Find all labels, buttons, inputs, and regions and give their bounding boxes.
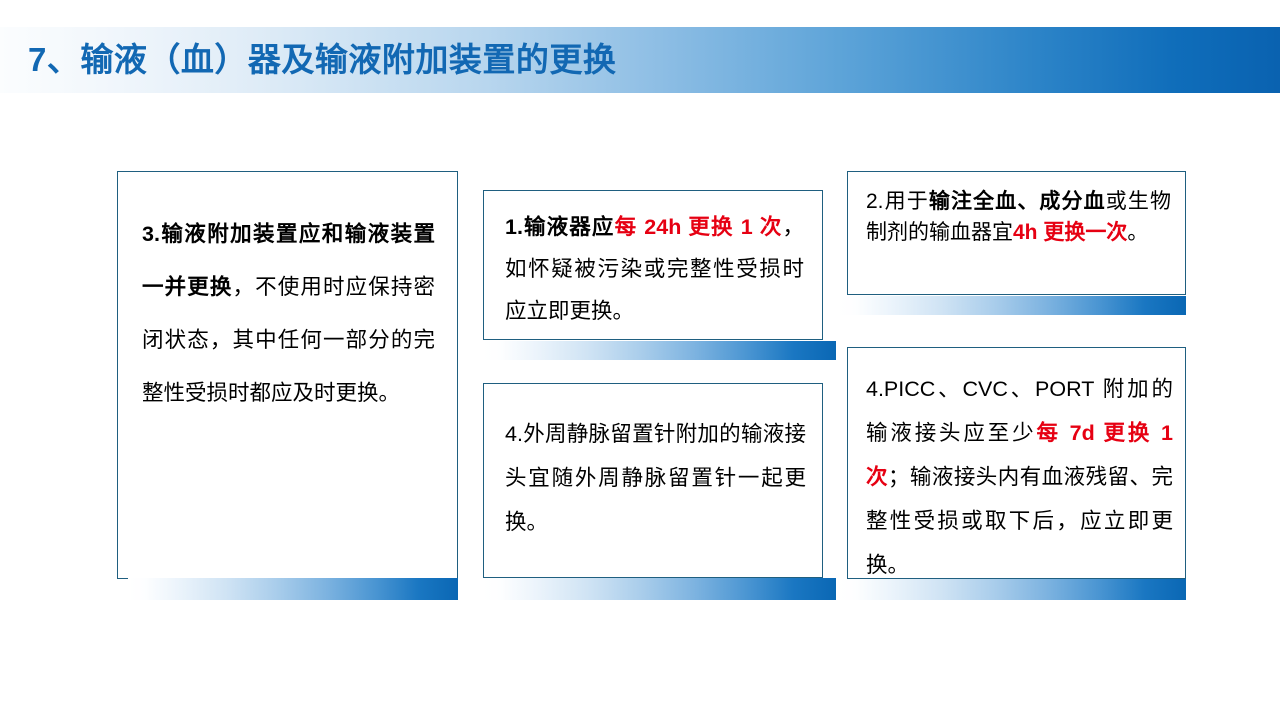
- card-text: 3.输液附加装置应和输液装置一并更换，不使用时应保持密闭状态，其中任何一部分的完…: [118, 172, 457, 420]
- infusion-add-on-device-card[interactable]: 3.输液附加装置应和输液装置一并更换，不使用时应保持密闭状态，其中任何一部分的完…: [117, 171, 458, 579]
- text-run-0: 1.输液器应: [505, 215, 615, 239]
- card-accent-bar: [483, 578, 836, 600]
- card-accent-bar: [483, 341, 836, 360]
- card-accent-bar: [838, 296, 1186, 315]
- text-run-1: 每 24h 更换 1 次: [615, 215, 783, 239]
- picc-cvc-port-connector-card[interactable]: 4.PICC、CVC、PORT 附加的输液接头应至少每 7d 更换 1 次；输液…: [847, 347, 1186, 579]
- card-accent-bar: [838, 579, 1186, 600]
- blood-transfusion-set-4h-card[interactable]: 2.用于输注全血、成分血或生物制剂的输血器宜4h 更换一次。: [847, 171, 1186, 295]
- infusion-set-24h-card[interactable]: 1.输液器应每 24h 更换 1 次，如怀疑被污染或完整性受损时应立即更换。: [483, 190, 823, 340]
- text-run-3: 4h 更换一次: [1013, 221, 1127, 244]
- card-body: 1.输液器应每 24h 更换 1 次，如怀疑被污染或完整性受损时应立即更换。: [484, 191, 822, 339]
- text-run-0: 2.用于: [866, 190, 929, 213]
- card-text: 1.输液器应每 24h 更换 1 次，如怀疑被污染或完整性受损时应立即更换。: [484, 191, 822, 332]
- card-body: 3.输液附加装置应和输液装置一并更换，不使用时应保持密闭状态，其中任何一部分的完…: [118, 172, 457, 578]
- page-title: 7、输液（血）器及输液附加装置的更换: [28, 36, 616, 84]
- peripheral-iv-catheter-card[interactable]: 4.外周静脉留置针附加的输液接头宜随外周静脉留置针一起更换。: [483, 383, 823, 578]
- card-accent-bar: [128, 578, 458, 600]
- text-run-4: 。: [1127, 221, 1148, 244]
- text-run-0: 4.外周静脉留置针附加的输液接头宜随外周静脉留置针一起更换。: [505, 422, 806, 534]
- text-run-2: ；输液接头内有血液残留、完整性受损或取下后，应立即更换。: [866, 465, 1173, 577]
- card-body: 2.用于输注全血、成分血或生物制剂的输血器宜4h 更换一次。: [848, 172, 1185, 294]
- card-text: 4.外周静脉留置针附加的输液接头宜随外周静脉留置针一起更换。: [484, 384, 822, 544]
- card-body: 4.外周静脉留置针附加的输液接头宜随外周静脉留置针一起更换。: [484, 384, 822, 577]
- card-body: 4.PICC、CVC、PORT 附加的输液接头应至少每 7d 更换 1 次；输液…: [848, 348, 1185, 578]
- card-text: 2.用于输注全血、成分血或生物制剂的输血器宜4h 更换一次。: [848, 172, 1185, 248]
- card-text: 4.PICC、CVC、PORT 附加的输液接头应至少每 7d 更换 1 次；输液…: [848, 348, 1185, 587]
- text-run-1: 输注全血、成分血: [929, 190, 1106, 213]
